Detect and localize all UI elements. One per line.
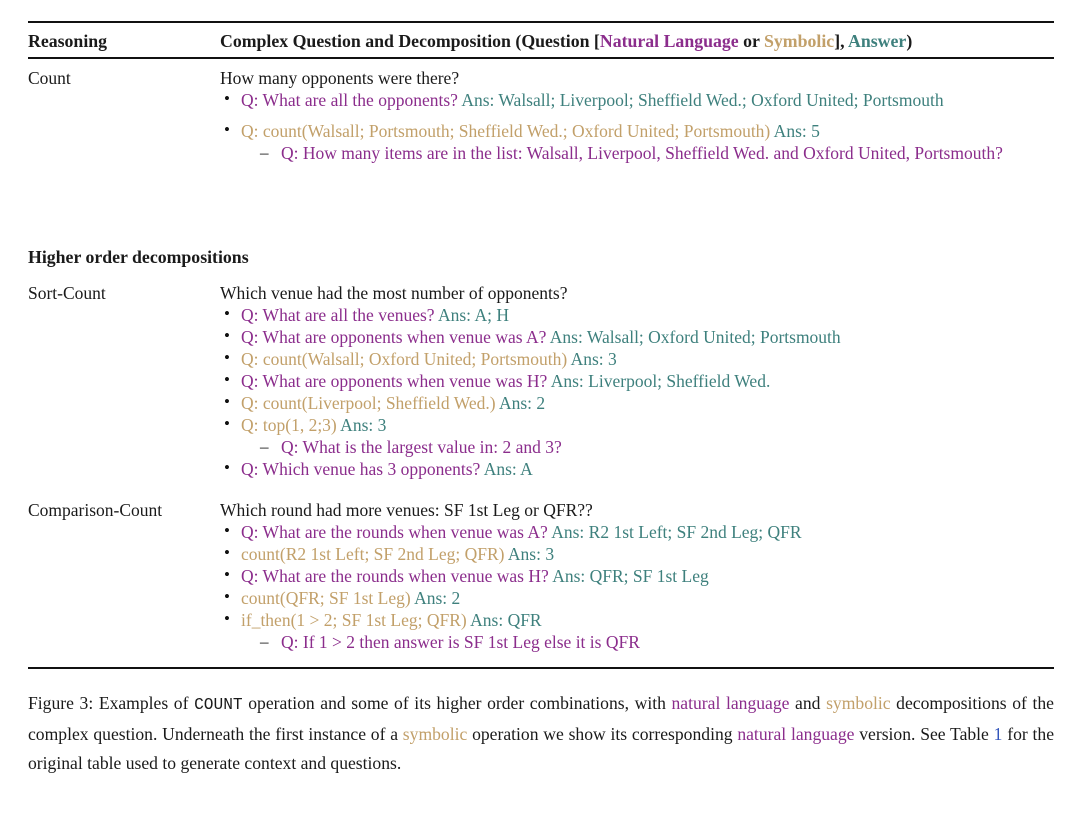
table-header-rule: [28, 57, 1054, 59]
text-run-ans: Ans: 3: [504, 544, 554, 564]
complex-question: How many opponents were there?: [220, 67, 1054, 89]
decomposition-text: Q: Which venue has 3 opponents? Ans: A: [241, 459, 533, 479]
text-run-sym: Q: count(Walsall; Portsmouth; Sheffield …: [241, 121, 770, 141]
text-run-plain: and Decomposition (Question [: [361, 31, 600, 51]
figure-caption: Figure 3: Examples of COUNT operation an…: [28, 689, 1054, 778]
decomposition-item: count(R2 1st Left; SF 2nd Leg; QFR) Ans:…: [220, 543, 1054, 565]
header-reasoning-label: Reasoning: [28, 30, 220, 52]
decomposition-item: Q: count(Liverpool; Sheffield Wed.) Ans:…: [220, 392, 1054, 414]
decomposition-list: Q: What are all the opponents? Ans: Wals…: [220, 89, 1054, 164]
decomposition-item: count(QFR; SF 1st Leg) Ans: 2: [220, 587, 1054, 609]
row-body-comparison-count: Which round had more venues: SF 1st Leg …: [220, 499, 1054, 653]
row-label-comparison-count: Comparison-Count: [28, 499, 220, 521]
text-run-ans: Ans: QFR; SF 1st Leg: [549, 566, 709, 586]
text-run-ans: Ans: Liverpool; Sheffield Wed.: [547, 371, 770, 391]
text-run-plain: and: [789, 693, 826, 713]
text-run-plain: Figure 3:: [28, 693, 99, 713]
row-body-count: How many opponents were there? Q: What a…: [220, 67, 1054, 164]
text-run-sym: Q: count(Liverpool; Sheffield Wed.): [241, 393, 496, 413]
text-run-sym: Q: top(1, 2;3): [241, 415, 337, 435]
decomposition-item: Q: What are the rounds when venue was H?…: [220, 565, 1054, 587]
text-run-nl: Q: What are all the opponents?: [241, 90, 458, 110]
text-run-sym: count(QFR; SF 1st Leg): [241, 588, 411, 608]
text-run-ans: Ans: 2: [411, 588, 461, 608]
natural-language-sublist: Q: How many items are in the list: Walsa…: [220, 142, 1054, 164]
complex-question: Which round had more venues: SF 1st Leg …: [220, 499, 1054, 521]
text-run-ans: Ans: Walsall; Liverpool; Sheffield Wed.;…: [458, 90, 944, 110]
decomposition-text: Q: What are all the opponents? Ans: Wals…: [241, 90, 944, 110]
decomposition-text: Q: count(Walsall; Oxford United; Portsmo…: [241, 349, 617, 369]
text-run-plain: or: [739, 31, 764, 51]
decomposition-item: Q: top(1, 2;3) Ans: 3: [220, 414, 1054, 436]
table-row: Comparison-Count Which round had more ve…: [28, 499, 1054, 653]
text-run-mono: COUNT: [194, 696, 243, 714]
text-run-nl: Q: What is the largest value in: 2 and 3…: [281, 437, 562, 457]
decomposition-item: Q: What are opponents when venue was H? …: [220, 370, 1054, 392]
decomposition-item: if_then(1 > 2; SF 1st Leg; QFR) Ans: QFR: [220, 609, 1054, 631]
text-run-nl: Q: What are opponents when venue was A?: [241, 327, 546, 347]
caption-rich-text: Figure 3: Examples of COUNT operation an…: [28, 693, 1054, 773]
text-run-ans: Ans: 3: [337, 415, 387, 435]
decomposition-item: Q: What are the rounds when venue was A?…: [220, 521, 1054, 543]
decomposition-text: Q: What are all the venues? Ans: A; H: [241, 305, 509, 325]
row-body-sort-count: Which venue had the most number of oppon…: [220, 282, 1054, 480]
text-run-plain: ],: [834, 31, 848, 51]
text-run-nl: Q: If 1 > 2 then answer is SF 1st Leg el…: [281, 632, 640, 652]
natural-language-subitem: Q: What is the largest value in: 2 and 3…: [260, 436, 1054, 458]
text-run-plain: Complex Question: [220, 31, 361, 51]
list-spacer: [220, 111, 1054, 120]
text-run-nl: Q: What are all the venues?: [241, 305, 435, 325]
text-run-nl: Natural Language: [600, 31, 739, 51]
table-bottom-rule: [28, 667, 1054, 669]
natural-language-subtext: Q: What is the largest value in: 2 and 3…: [281, 437, 562, 457]
decomposition-item: Q: What are all the opponents? Ans: Wals…: [220, 89, 1054, 111]
natural-language-sublist: Q: If 1 > 2 then answer is SF 1st Leg el…: [220, 631, 1054, 653]
text-run-ans: Ans: 5: [770, 121, 820, 141]
text-run-ans: Ans: 2: [496, 393, 546, 413]
decomposition-item: Q: What are all the venues? Ans: A; H: [220, 304, 1054, 326]
text-run-ans: Ans: R2 1st Left; SF 2nd Leg; QFR: [548, 522, 802, 542]
natural-language-subitem: Q: How many items are in the list: Walsa…: [260, 142, 1054, 164]
decomposition-text: Q: What are the rounds when venue was H?…: [241, 566, 709, 586]
natural-language-subitem: Q: If 1 > 2 then answer is SF 1st Leg el…: [260, 631, 1054, 653]
decomposition-text: Q: count(Walsall; Portsmouth; Sheffield …: [241, 121, 820, 141]
table-row: Count How many opponents were there? Q: …: [28, 67, 1054, 164]
text-run-ans: Ans: A; H: [435, 305, 509, 325]
section-subheading: Higher order decompositions: [28, 246, 249, 268]
text-run-nl: Q: What are opponents when venue was H?: [241, 371, 547, 391]
text-run-sym: symbolic: [826, 693, 891, 713]
text-run-ans: Ans: QFR: [467, 610, 542, 630]
decomposition-list: Q: What are the rounds when venue was A?…: [220, 521, 1054, 653]
decomposition-text: count(R2 1st Left; SF 2nd Leg; QFR) Ans:…: [241, 544, 554, 564]
decomposition-text: Q: What are opponents when venue was A? …: [241, 327, 841, 347]
text-run-plain: operation we show its corresponding: [467, 724, 737, 744]
text-run-plain: Examples of: [99, 693, 194, 713]
decomposition-text: Q: What are opponents when venue was H? …: [241, 371, 770, 391]
text-run-plain: operation and some of its higher order c…: [243, 693, 672, 713]
complex-question: Which venue had the most number of oppon…: [220, 282, 1054, 304]
row-label-count: Count: [28, 67, 220, 89]
text-run-ans: Answer: [848, 31, 906, 51]
text-run-ans: Ans: A: [480, 459, 533, 479]
row-label-sort-count: Sort-Count: [28, 282, 220, 304]
text-run-nl: Q: How many items are in the list: Walsa…: [281, 143, 1003, 163]
decomposition-text: count(QFR; SF 1st Leg) Ans: 2: [241, 588, 460, 608]
decomposition-item: Q: Which venue has 3 opponents? Ans: A: [220, 458, 1054, 480]
decomposition-item: Q: count(Walsall; Oxford United; Portsmo…: [220, 348, 1054, 370]
natural-language-sublist: Q: What is the largest value in: 2 and 3…: [220, 436, 1054, 458]
text-run-sym: Symbolic: [764, 31, 834, 51]
figure-page: Reasoning Complex Question and Decomposi…: [0, 0, 1080, 817]
header-decomposition-label: Complex Question and Decomposition (Ques…: [220, 30, 1054, 52]
natural-language-subtext: Q: How many items are in the list: Walsa…: [281, 143, 1003, 163]
table-header-row: Reasoning Complex Question and Decomposi…: [28, 30, 1054, 52]
table-top-rule: [28, 21, 1054, 23]
text-run-ans: Ans: 3: [567, 349, 617, 369]
text-run-nl: Q: Which venue has 3 opponents?: [241, 459, 480, 479]
decomposition-item: Q: count(Walsall; Portsmouth; Sheffield …: [220, 120, 1054, 142]
table-row: Sort-Count Which venue had the most numb…: [28, 282, 1054, 480]
decomposition-text: Q: top(1, 2;3) Ans: 3: [241, 415, 386, 435]
text-run-nl: natural language: [672, 693, 790, 713]
decomposition-list: Q: What are all the venues? Ans: A; HQ: …: [220, 304, 1054, 480]
text-run-plain: version. See Table: [854, 724, 993, 744]
decomposition-text: Q: count(Liverpool; Sheffield Wed.) Ans:…: [241, 393, 545, 413]
text-run-sym: Q: count(Walsall; Oxford United; Portsmo…: [241, 349, 567, 369]
header-rich-text: Complex Question and Decomposition (Ques…: [220, 31, 912, 51]
text-run-sym: symbolic: [403, 724, 468, 744]
decomposition-text: if_then(1 > 2; SF 1st Leg; QFR) Ans: QFR: [241, 610, 542, 630]
text-run-nl: Q: What are the rounds when venue was A?: [241, 522, 548, 542]
natural-language-subtext: Q: If 1 > 2 then answer is SF 1st Leg el…: [281, 632, 640, 652]
text-run-sym: count(R2 1st Left; SF 2nd Leg; QFR): [241, 544, 504, 564]
decomposition-text: Q: What are the rounds when venue was A?…: [241, 522, 802, 542]
text-run-nl: natural language: [737, 724, 854, 744]
decomposition-item: Q: What are opponents when venue was A? …: [220, 326, 1054, 348]
text-run-plain: ): [906, 31, 912, 51]
text-run-ans: Ans: Walsall; Oxford United; Portsmouth: [546, 327, 840, 347]
text-run-nl: Q: What are the rounds when venue was H?: [241, 566, 549, 586]
text-run-sym: if_then(1 > 2; SF 1st Leg; QFR): [241, 610, 467, 630]
